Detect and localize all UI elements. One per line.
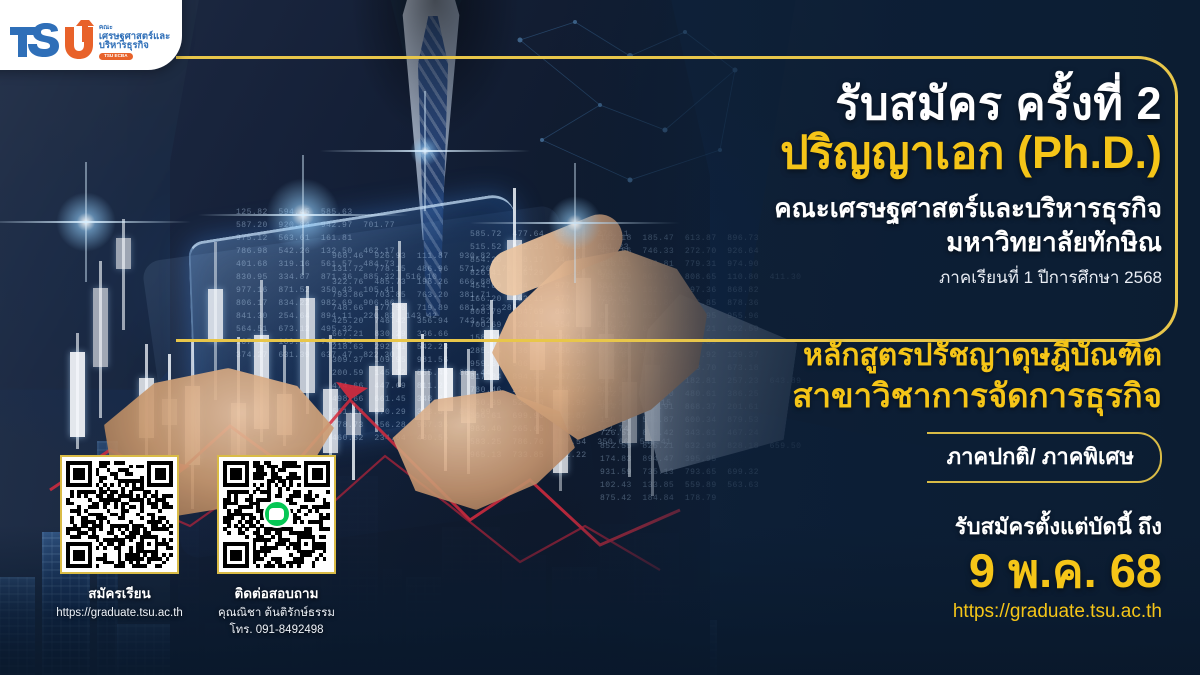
- deadline-date: 9 พ.ค. 68: [602, 546, 1162, 597]
- line-app-icon: [263, 500, 291, 528]
- deadline-prefix: รับสมัครตั้งแต่บัดนี้ ถึง: [602, 509, 1162, 544]
- university-name: มหาวิทยาลัยทักษิณ: [602, 226, 1162, 259]
- qr-code-contact-line[interactable]: [217, 455, 336, 574]
- qr-contact-pattern: [223, 461, 330, 568]
- lens-flare-1: [56, 192, 116, 252]
- tsu-logo-badge: คณะ เศรษฐศาสตร์และ บริหารธุรกิจ TSU ECBA: [0, 0, 182, 70]
- qr-apply-url: https://graduate.tsu.ac.th: [52, 606, 187, 622]
- headline-column: รับสมัคร ครั้งที่ 2 ปริญญาเอก (Ph.D.) คณ…: [602, 0, 1162, 623]
- qr-code-section: สมัครเรียน https://graduate.tsu.ac.th ติ…: [52, 455, 344, 639]
- logo-faculty-name: คณะ เศรษฐศาสตร์และ บริหารธุรกิจ TSU ECBA: [99, 25, 170, 64]
- qr-contact-phone: โทร. 091-8492498: [209, 623, 344, 639]
- qr-contact-title: ติดต่อสอบถาม: [209, 582, 344, 604]
- application-url[interactable]: https://graduate.tsu.ac.th: [602, 601, 1162, 623]
- degree-program-name: หลักสูตรปรัชญาดุษฎีบัณฑิต: [602, 337, 1162, 375]
- study-mode-row: ภาคปกติ/ ภาคพิเศษ: [602, 432, 1162, 483]
- degree-level-title: ปริญญาเอก (Ph.D.): [602, 128, 1162, 178]
- study-mode-badge: ภาคปกติ/ ภาคพิเศษ: [927, 432, 1162, 483]
- logo-pill-label: TSU ECBA: [99, 53, 133, 60]
- qr-apply-pattern: [66, 461, 173, 568]
- poster-canvas: 125.82 594.45 585.63 587.20 920.84 942.9…: [0, 0, 1200, 675]
- major-name: สาขาวิชาการจัดการธุรกิจ: [602, 375, 1162, 416]
- logo-faculty-line-2: บริหารธุรกิจ: [99, 41, 170, 51]
- faculty-name: คณะเศรษฐศาสตร์และบริหารธุรกิจ: [602, 192, 1162, 226]
- qr-code-apply[interactable]: [60, 455, 179, 574]
- logo-pill-badge: TSU ECBA: [99, 53, 133, 60]
- tsu-wordmark-icon: [8, 20, 94, 64]
- qr-apply-title: สมัครเรียน: [52, 582, 187, 604]
- academic-term: ภาคเรียนที่ 1 ปีการศึกษา 2568: [602, 264, 1162, 291]
- qr-contact-person: คุณณิชา ต้นติรักษ์ธรรม: [209, 606, 344, 622]
- qr-block-contact: ติดต่อสอบถาม คุณณิชา ต้นติรักษ์ธรรม โทร.…: [209, 455, 344, 639]
- admission-round-title: รับสมัคร ครั้งที่ 2: [602, 80, 1162, 128]
- qr-block-apply: สมัครเรียน https://graduate.tsu.ac.th: [52, 455, 187, 639]
